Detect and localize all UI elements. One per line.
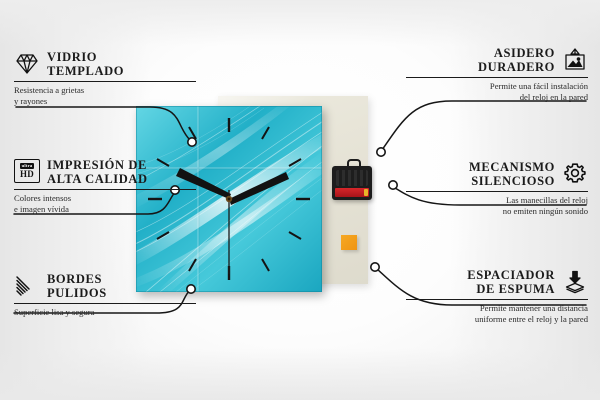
feature-header: VIDRIO TEMPLADO [14, 50, 196, 78]
feature-title: ESPACIADOR DE ESPUMA [467, 268, 555, 296]
polished-edges-icon [14, 273, 40, 299]
feature-title: ASIDERO DURADERO [478, 46, 555, 74]
feature-title: MECANISMO SILENCIOSO [469, 160, 555, 188]
infographic-canvas: VIDRIO TEMPLADO Resistencia a grietas y … [0, 0, 600, 400]
feature-header: ultra HD IMPRESIÓN DE ALTA CALIDAD [14, 158, 196, 186]
feature-title: VIDRIO TEMPLADO [47, 50, 124, 78]
foam-spacer-pad [341, 235, 357, 250]
feature-description: Las manecillas del reloj no emiten ningú… [406, 195, 588, 218]
feature-description: Colores intensos e imagen vívida [14, 193, 196, 216]
feature-vidrio-templado: VIDRIO TEMPLADO Resistencia a grietas y … [14, 50, 196, 108]
feature-header: ASIDERO DURADERO [406, 46, 588, 74]
hd-label: HD [20, 170, 34, 179]
feature-title: BORDES PULIDOS [47, 272, 107, 300]
feature-header: MECANISMO SILENCIOSO [406, 160, 588, 188]
divider [406, 77, 588, 78]
feature-header: ESPACIADOR DE ESPUMA [406, 268, 588, 296]
feature-espaciador-espuma: ESPACIADOR DE ESPUMA Permite mantener un… [406, 268, 588, 326]
diamond-icon [14, 51, 40, 77]
divider [406, 299, 588, 300]
background-shade-bottom [0, 348, 600, 400]
feature-impresion-alta-calidad: ultra HD IMPRESIÓN DE ALTA CALIDAD Color… [14, 158, 196, 216]
gear-icon [562, 161, 588, 187]
feature-description: Permite mantener una distancia uniforme … [406, 303, 588, 326]
feature-asidero-duradero: ASIDERO DURADERO Permite una fácil insta… [406, 46, 588, 104]
feature-description: Superficie lisa y segura [14, 307, 196, 318]
feature-description: Resistencia a grietas y rayones [14, 85, 196, 108]
divider [406, 191, 588, 192]
mechanism-shaft [347, 159, 361, 169]
feature-mecanismo-silencioso: MECANISMO SILENCIOSO Las manecillas del … [406, 160, 588, 218]
divider [14, 303, 196, 304]
mechanism-grid [336, 170, 368, 186]
foam-spacer-icon [562, 269, 588, 295]
hanging-frame-icon [562, 47, 588, 73]
divider [14, 81, 196, 82]
background-shade-top [0, 0, 600, 46]
feature-bordes-pulidos: BORDES PULIDOS Superficie lisa y segura [14, 272, 196, 318]
ultra-hd-icon: ultra HD [14, 159, 40, 185]
feature-description: Permite una fácil instalación del reloj … [406, 81, 588, 104]
feature-header: BORDES PULIDOS [14, 272, 196, 300]
battery [335, 188, 369, 197]
feature-title: IMPRESIÓN DE ALTA CALIDAD [47, 158, 148, 186]
quartz-mechanism [332, 166, 372, 200]
divider [14, 189, 196, 190]
